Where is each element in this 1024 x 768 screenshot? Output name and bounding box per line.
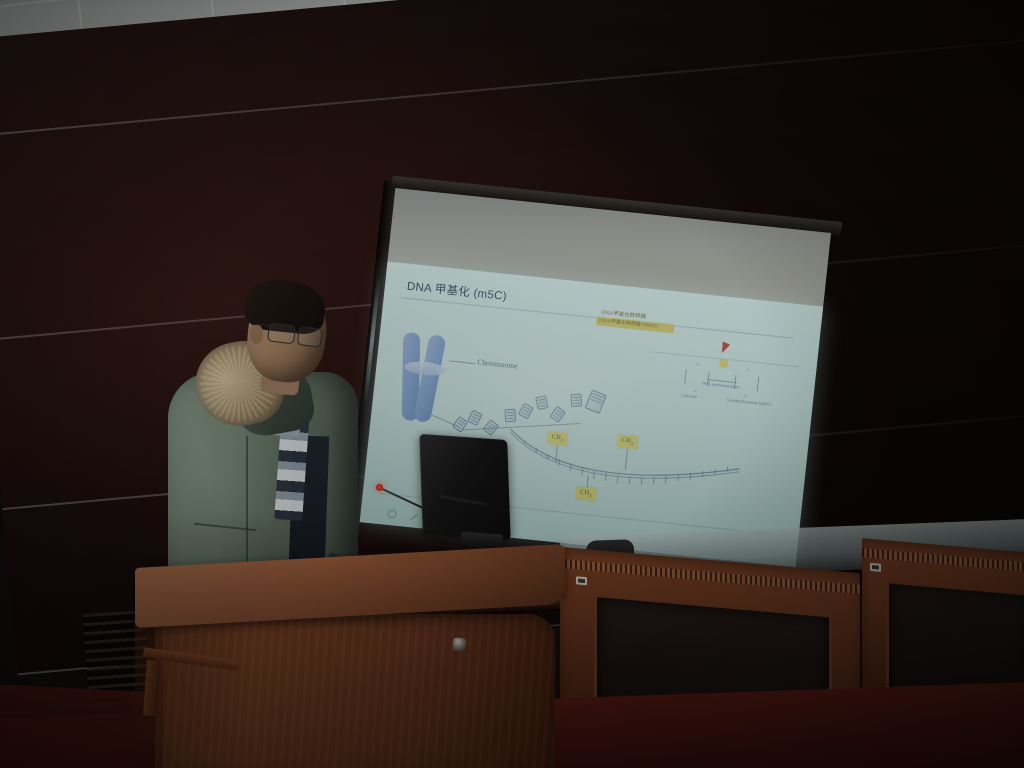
lecture-hall-scene: DNA 甲基化 (m5C) Chromosome	[0, 0, 1024, 768]
podium-monitor[interactable]	[421, 437, 517, 555]
cytosine-label: Cytosine	[681, 392, 697, 399]
podium-wood-grain	[155, 614, 555, 768]
histone-bead	[549, 406, 566, 423]
methyl-group-3: CH3	[575, 486, 596, 501]
methyl-group-1: CH3	[547, 431, 568, 446]
histone-bead-large	[585, 389, 607, 414]
chromosome-label: Chromosome	[477, 357, 518, 370]
podium-lock-icon[interactable]	[452, 637, 466, 651]
histone-bead	[535, 395, 548, 410]
methylation-arrow-icon	[718, 341, 730, 354]
chromosome-leader-line	[449, 360, 475, 364]
wooden-podium	[135, 556, 565, 768]
microphone-led-icon	[376, 484, 383, 491]
power-outlet	[870, 563, 881, 572]
methylcytosine-ring	[733, 368, 760, 398]
histone-bead	[467, 410, 483, 426]
glasses-lens-right	[297, 326, 323, 348]
histone-bead	[452, 416, 468, 433]
glasses-lens-left	[267, 322, 296, 344]
desk-fluting	[862, 548, 1024, 573]
ear	[250, 324, 263, 344]
methyl-transfer-tag	[719, 359, 728, 368]
histone-bead	[504, 409, 516, 423]
histone-bead	[518, 403, 534, 420]
methylcytosine-label: 5-methylcytosine (m5C)	[726, 397, 770, 407]
monitor-vent-line	[439, 495, 485, 506]
histone-bead	[571, 393, 582, 406]
monitor-panel[interactable]	[419, 434, 510, 540]
podium-front	[155, 614, 555, 768]
power-outlet	[576, 576, 587, 585]
methyl-group-2: CH3	[617, 434, 638, 449]
